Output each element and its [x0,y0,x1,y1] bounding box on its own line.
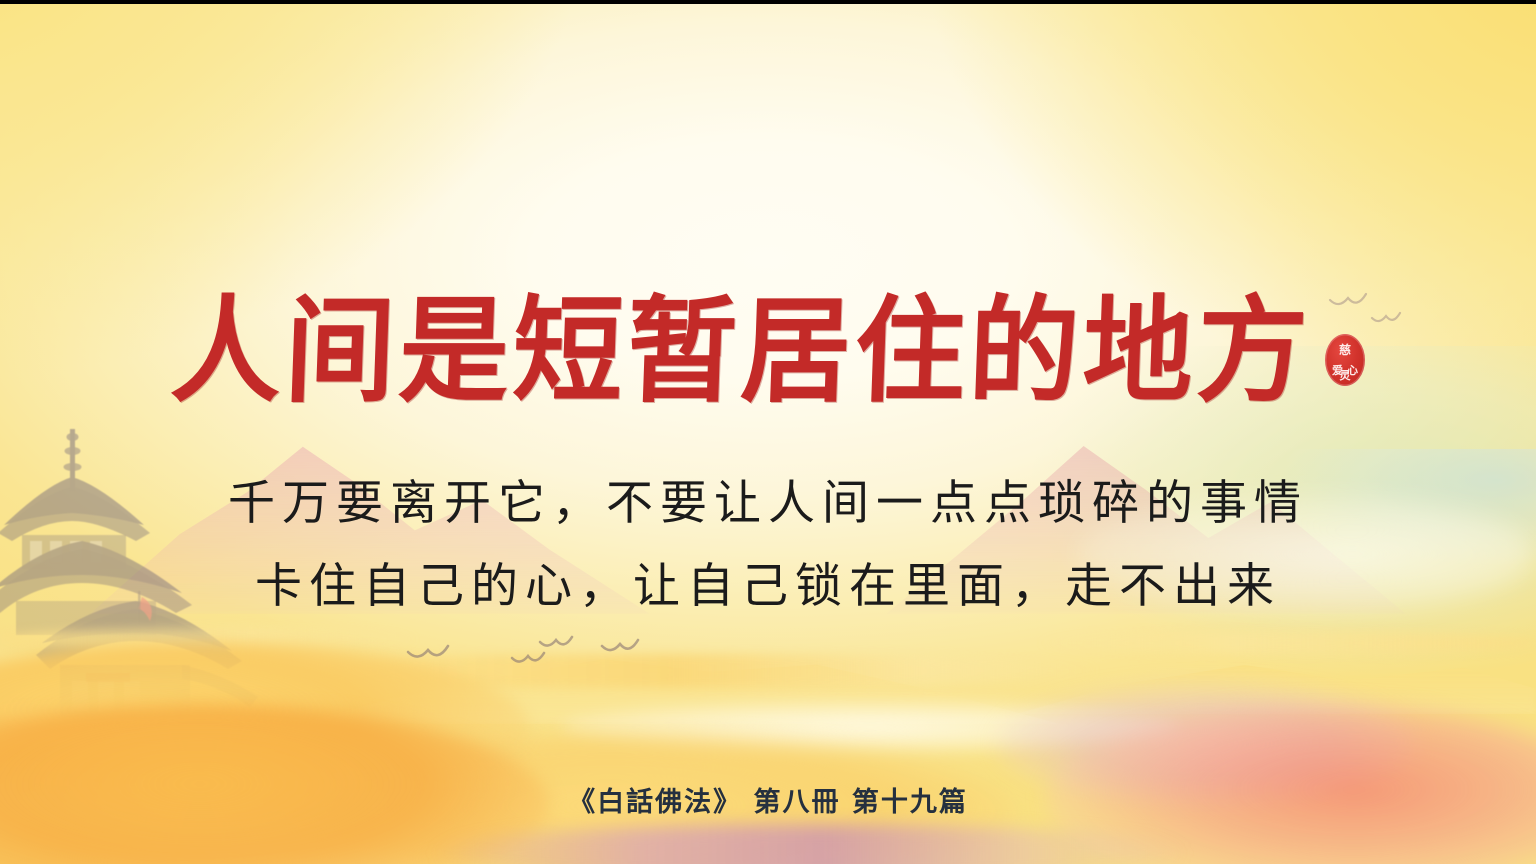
seal-stamp: 慈 爱 心 灵 [1325,334,1365,386]
poster-canvas: 人间是短暂居住的地方 慈 爱 心 灵 千万要离开它，不要让人间一点点琐碎的事情 … [0,0,1536,864]
source-citation: 《白話佛法》 第八冊 第十九篇 [0,780,1536,819]
seal-char-top: 慈 [1339,344,1351,356]
subtitle-block: 千万要离开它，不要让人间一点点琐碎的事情 卡住自己的心，让自己锁在里面，走不出来 [0,462,1536,628]
seal-char-bottom: 灵 [1340,367,1351,383]
top-black-bar [0,0,1536,4]
page-title: 人间是短暂居住的地方 [169,289,1313,414]
title-row: 人间是短暂居住的地方 慈 爱 心 灵 [0,292,1536,411]
poster-content: 人间是短暂居住的地方 慈 爱 心 灵 千万要离开它，不要让人间一点点琐碎的事情 … [0,0,1536,864]
subtitle-line-2: 卡住自己的心，让自己锁在里面，走不出来 [0,545,1536,628]
subtitle-line-1: 千万要离开它，不要让人间一点点琐碎的事情 [0,462,1536,545]
